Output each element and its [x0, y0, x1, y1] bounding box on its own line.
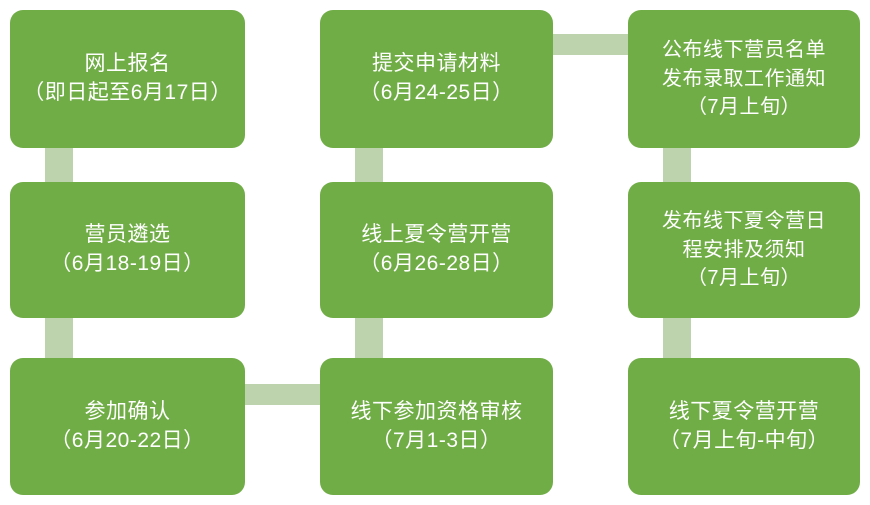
connector-announce-camper-list-to-publish-schedule: [663, 148, 691, 182]
node-line: （7月上旬-中旬）: [659, 427, 829, 456]
flowchart-diagram: 网上报名 （即日起至6月17日） 营员遴选 （6月18-19日） 参加确认 （6…: [0, 0, 870, 505]
node-line: （6月18-19日）: [50, 250, 204, 279]
node-line: 线下参加资格审核: [351, 398, 523, 427]
node-offline-qualification-review[interactable]: 线下参加资格审核 （7月1-3日）: [320, 358, 553, 495]
node-line: （6月26-28日）: [359, 250, 513, 279]
node-online-camp-opening[interactable]: 线上夏令营开营 （6月26-28日）: [320, 182, 553, 318]
connector-camper-selection-to-participation-confirmation: [45, 318, 73, 358]
node-line: 参加确认: [85, 398, 171, 427]
node-line: （7月1-3日）: [371, 427, 501, 456]
node-line: 营员遴选: [85, 221, 171, 250]
node-line: （6月20-22日）: [50, 427, 204, 456]
connector-submit-materials-to-online-camp-opening: [355, 148, 383, 182]
node-line: 程安排及须知: [683, 236, 806, 264]
node-line: 提交申请材料: [372, 50, 501, 79]
node-line: 网上报名: [85, 50, 171, 79]
node-camper-selection[interactable]: 营员遴选 （6月18-19日）: [10, 182, 245, 318]
node-submit-application-materials[interactable]: 提交申请材料 （6月24-25日）: [320, 10, 553, 148]
node-line: 线下夏令营开营: [669, 398, 820, 427]
node-line: （7月上旬）: [687, 93, 801, 121]
node-line: 发布录取工作通知: [662, 65, 826, 93]
connector-submit-materials-to-announce-camper-list: [553, 34, 628, 55]
node-line: （7月上旬）: [687, 264, 801, 292]
node-offline-camp-opening[interactable]: 线下夏令营开营 （7月上旬-中旬）: [628, 358, 860, 495]
node-line: 公布线下营员名单: [662, 36, 826, 64]
node-publish-offline-camp-schedule[interactable]: 发布线下夏令营日 程安排及须知 （7月上旬）: [628, 182, 860, 318]
node-line: （即日起至6月17日）: [23, 79, 232, 108]
connector-online-camp-opening-to-offline-qualification-review: [355, 318, 383, 358]
node-announce-offline-camper-list[interactable]: 公布线下营员名单 发布录取工作通知 （7月上旬）: [628, 10, 860, 148]
node-line: （6月24-25日）: [359, 79, 513, 108]
node-line: 线上夏令营开营: [361, 221, 512, 250]
connector-online-registration-to-camper-selection: [45, 148, 73, 182]
node-participation-confirmation[interactable]: 参加确认 （6月20-22日）: [10, 358, 245, 495]
connector-publish-schedule-to-offline-camp-opening: [663, 318, 691, 358]
connector-participation-confirmation-to-offline-qualification-review: [245, 384, 320, 405]
node-online-registration[interactable]: 网上报名 （即日起至6月17日）: [10, 10, 245, 148]
node-line: 发布线下夏令营日: [662, 207, 826, 235]
